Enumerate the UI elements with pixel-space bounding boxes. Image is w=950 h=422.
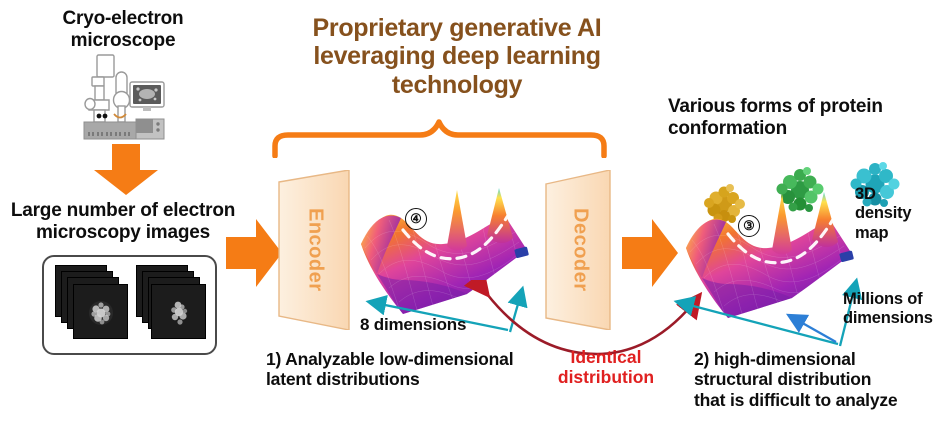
protein-forms-heading-line-1: Various forms of protein — [668, 96, 948, 118]
structure-caption-line-3: that is difficult to analyze — [694, 390, 950, 410]
latent-axis-label: 8 dimensions — [360, 315, 466, 335]
structure-axis-label: Millions of dimensions — [843, 290, 950, 329]
encoder-shape — [275, 170, 355, 330]
em-image-thumb — [151, 284, 206, 339]
structure-caption-line-2: structural distribution — [694, 369, 950, 389]
latent-marker-4: ④ — [405, 208, 427, 230]
structure-axis-line-1: Millions of — [843, 290, 950, 309]
latent-marker-4-label: ④ — [410, 211, 422, 227]
density-map-line-1: 3D — [855, 185, 945, 204]
latent-caption-line-2: latent distributions — [266, 369, 536, 389]
microscope-heading-line-2: microscope — [8, 30, 238, 52]
electron-microscopy-image-stack — [42, 255, 217, 355]
figure-title-line-2: leveraging deep learning — [268, 42, 646, 70]
em-images-heading: Large number of electron microscopy imag… — [3, 200, 243, 243]
em-image-thumb — [73, 284, 128, 339]
encoder-block[interactable]: Encoder — [275, 170, 355, 330]
em-images-heading-line-1: Large number of electron — [3, 200, 243, 222]
protein-forms-heading-line-2: conformation — [668, 118, 948, 140]
identical-distribution-line-1: Identical — [536, 347, 676, 367]
protein-forms-heading: Various forms of protein conformation — [668, 96, 948, 139]
structure-axis-line-2: dimensions — [843, 309, 950, 328]
microscope-heading: Cryo-electron microscope — [8, 8, 238, 51]
orange-down-arrow-icon — [88, 144, 164, 196]
cryo-electron-microscope-icon — [70, 52, 185, 140]
density-map-label: 3D density map — [855, 185, 945, 243]
em-images-heading-line-2: microscopy images — [3, 222, 243, 244]
structure-caption: 2) high-dimensional structural distribut… — [694, 349, 950, 410]
density-map-line-2: density — [855, 204, 945, 223]
em-particle-image — [74, 285, 129, 340]
structure-marker-3-label: ③ — [743, 218, 755, 234]
figure-root: Proprietary generative AI leveraging dee… — [0, 0, 950, 422]
figure-title-line-1: Proprietary generative AI — [268, 14, 646, 42]
density-map-line-3: map — [855, 224, 945, 243]
figure-title: Proprietary generative AI leveraging dee… — [268, 14, 646, 99]
microscope-heading-line-1: Cryo-electron — [8, 8, 238, 30]
identical-distribution-line-2: distribution — [536, 367, 676, 387]
structure-marker-3: ③ — [738, 215, 760, 237]
em-particle-image — [152, 285, 207, 340]
structure-caption-line-1: 2) high-dimensional — [694, 349, 950, 369]
identical-distribution-label: Identical distribution — [536, 347, 676, 387]
figure-title-line-3: technology — [268, 71, 646, 99]
orange-curly-brace — [272, 118, 607, 158]
